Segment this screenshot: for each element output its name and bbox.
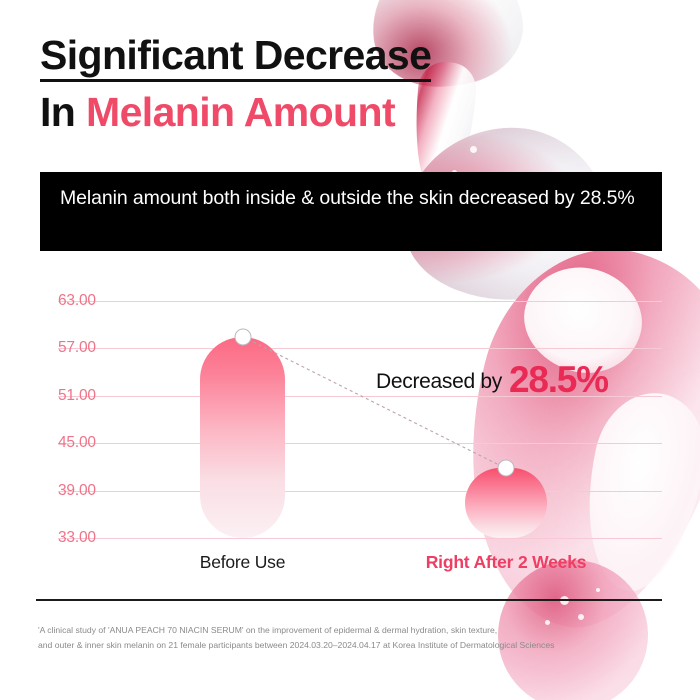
- bar-right-after-2-weeks: [465, 468, 547, 538]
- bubble-icon: [596, 588, 600, 592]
- summary-banner: Melanin amount both inside & outside the…: [40, 172, 662, 251]
- bubble-icon: [578, 614, 584, 620]
- headline-line-1: Significant Decrease: [40, 34, 431, 82]
- summary-banner-text: Melanin amount both inside & outside the…: [60, 185, 648, 213]
- y-tick-label: 33.00: [58, 529, 118, 547]
- headline-block: Significant Decrease In Melanin Amount: [40, 34, 431, 135]
- bar-before-use: [200, 337, 285, 538]
- headline-line-2-accent: Melanin Amount: [86, 89, 395, 135]
- gridline: [58, 301, 662, 302]
- y-tick-label: 63.00: [58, 292, 118, 310]
- x-axis-label-right-after-2-weeks: Right After 2 Weeks: [426, 552, 587, 573]
- annotation-value: 28.5%: [509, 359, 608, 400]
- decrease-annotation: Decreased by28.5%: [376, 355, 608, 397]
- y-tick-label: 45.00: [58, 434, 118, 452]
- study-footnote: 'A clinical study of 'ANUA PEACH 70 NIAC…: [38, 623, 668, 653]
- gridline: [58, 348, 662, 349]
- gridline: [58, 443, 662, 444]
- data-point-marker-before: [234, 328, 251, 345]
- footnote-divider: [36, 599, 662, 601]
- bubble-icon: [470, 146, 477, 153]
- gridline: [58, 491, 662, 492]
- y-tick-label: 51.00: [58, 387, 118, 405]
- annotation-label: Decreased by: [376, 370, 502, 393]
- headline-line-2: In Melanin Amount: [40, 91, 431, 134]
- y-tick-label: 39.00: [58, 482, 118, 500]
- infographic-canvas: Significant Decrease In Melanin Amount M…: [0, 0, 700, 700]
- data-point-marker-after: [498, 460, 515, 477]
- melanin-bar-chart: 63.0057.0051.0045.0039.0033.00 Before Us…: [0, 282, 700, 582]
- headline-line-2-prefix: In: [40, 89, 75, 135]
- gridline: [58, 538, 662, 539]
- x-axis-label-before-use: Before Use: [200, 552, 286, 573]
- footnote-line-2: and outer & inner skin melanin on 21 fem…: [38, 638, 668, 653]
- footnote-line-1: 'A clinical study of 'ANUA PEACH 70 NIAC…: [38, 623, 668, 638]
- y-tick-label: 57.00: [58, 339, 118, 357]
